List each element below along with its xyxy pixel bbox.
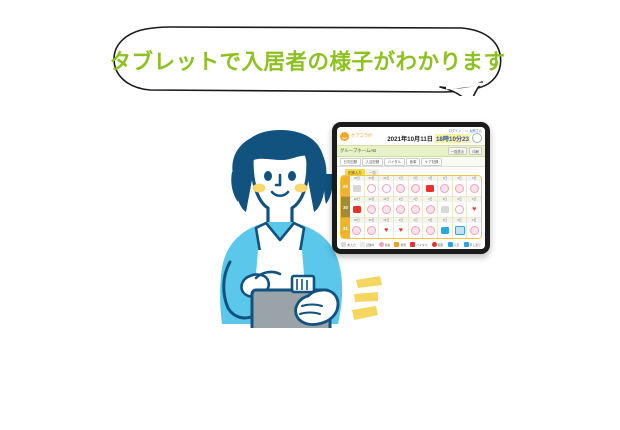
calendar-cell[interactable]: 1日: [394, 197, 409, 217]
calendar-cell-body: [394, 202, 408, 218]
calendar-cell-body: [438, 202, 452, 218]
status-pinkf-icon: [411, 205, 420, 214]
sparkle-line-2: [354, 292, 378, 302]
legend-swatch: [360, 242, 365, 247]
calendar-cell-body: [423, 223, 437, 239]
legend-label: 入浴: [454, 243, 460, 247]
calendar-cell-body: [350, 223, 364, 239]
calendar-cell[interactable]: 30日: [365, 176, 380, 196]
calendar-cell-body: ♥: [394, 223, 408, 239]
legend-swatch: [410, 242, 415, 247]
status-gray-icon: [353, 185, 361, 192]
calendar-cell[interactable]: 2日: [409, 197, 424, 217]
sparkle-line-1: [356, 276, 382, 288]
calendar-cell[interactable]: 29日: [350, 218, 365, 238]
datetime-row: 2021年10月11日 18時10分23: [387, 133, 482, 143]
calendar-row: 29日30日31日♥1日♥2日3日4日5日6日: [350, 218, 481, 238]
calendar-cell-body: [423, 202, 437, 218]
status-pinkf-icon: [470, 226, 479, 235]
status-red-icon: [426, 185, 434, 193]
status-pinkf-icon: [411, 184, 420, 193]
legend-item: 申し送り: [464, 242, 481, 247]
status-pinkf-icon: [396, 184, 405, 193]
calendar-row-labels: 293031: [341, 176, 350, 238]
calendar-cell[interactable]: 6日♥: [467, 197, 481, 217]
calendar-cell[interactable]: 29日: [350, 197, 365, 217]
calendar-cell[interactable]: 31日: [379, 176, 394, 196]
group-action-button[interactable]: 印刷: [469, 147, 482, 155]
tab-item[interactable]: バイタル: [384, 158, 404, 166]
status-pinkf-icon: [426, 226, 435, 235]
calendar-cell-body: [365, 223, 379, 239]
status-pinkf-icon: [367, 205, 376, 214]
calendar-cell[interactable]: 31日: [379, 197, 394, 217]
status-pinkf-icon: [367, 226, 376, 235]
legend-label: 食事: [385, 243, 391, 247]
calendar-cell-body: [467, 223, 481, 239]
status-pinkf-icon: [470, 184, 479, 193]
status-redmark-icon: ♥: [472, 206, 476, 213]
tablet-screen: ケアコラボ ログイン：○○ 太郎さん 2021年10月11日 18時10分23 …: [337, 127, 485, 249]
calendar-cell[interactable]: 4日: [438, 197, 453, 217]
tablet-device: ケアコラボ ログイン：○○ 太郎さん 2021年10月11日 18時10分23 …: [332, 122, 490, 254]
calendar-cell-body: [365, 181, 379, 197]
legend-swatch: [432, 242, 437, 247]
legend-item: 未入力: [341, 242, 355, 247]
group-action-button[interactable]: 一覧表示: [448, 147, 468, 155]
app-logo-text: ケアコラボ: [351, 133, 372, 139]
calendar-row: 29日30日31日1日2日3日4日5日6日♥: [350, 197, 481, 218]
status-pinkf-icon: [455, 184, 464, 193]
current-date-text: 2021年10月11日: [387, 134, 433, 143]
page-root: タブレットで入居者の様子がわかります: [0, 0, 620, 430]
app-logo-icon: [340, 132, 349, 141]
group-actions: 一覧表示 印刷: [448, 147, 482, 155]
calendar-row: 29日30日31日1日2日3日4日5日6日: [350, 176, 481, 197]
calendar-cell[interactable]: 4日: [438, 176, 453, 196]
legend-label: 未入力: [347, 243, 355, 247]
calendar-row-label: 29: [341, 176, 350, 197]
calendar-cell-body: [453, 181, 467, 197]
status-pink-icon: [455, 205, 464, 214]
calendar-cell-body: [350, 181, 364, 197]
legend-item: バイタル: [410, 242, 427, 247]
calendar-row-label: 31: [341, 218, 350, 238]
calendar-panel: 293031 29日30日31日1日2日3日4日5日6日29日30日31日1日2…: [340, 175, 482, 239]
tab-row: 日次記録 入浴記録 バイタル 食事 ケア記録: [337, 157, 485, 167]
calendar-cell[interactable]: 3日: [423, 176, 438, 196]
calendar-cell-body: [453, 223, 467, 239]
legend-item: 食事: [379, 242, 391, 247]
group-name-label: グループホームAB: [340, 148, 376, 154]
calendar-cell[interactable]: 31日♥: [379, 218, 394, 238]
status-blue-icon: [441, 227, 449, 235]
calendar-row-label: 30: [341, 197, 350, 218]
status-pinkf-icon: [440, 184, 449, 193]
tab-item[interactable]: 食事: [406, 158, 420, 166]
calendar-cell-body: [438, 181, 452, 197]
sparkle-marks: [352, 276, 392, 322]
status-pinkf-icon: [396, 205, 405, 214]
legend-item: 入浴: [448, 242, 460, 247]
tab-item[interactable]: 入浴記録: [362, 158, 383, 166]
calendar-cell[interactable]: 30日: [365, 218, 380, 238]
legend-label: 排泄: [400, 243, 406, 247]
legend-swatch: [394, 242, 399, 247]
app-header: ケアコラボ ログイン：○○ 太郎さん 2021年10月11日 18時10分23: [337, 127, 485, 146]
hair-side-left: [231, 172, 240, 202]
legend-label: バイタル: [416, 243, 427, 247]
tab-item[interactable]: ケア記録: [421, 158, 442, 166]
calendar-cell[interactable]: 29日: [350, 176, 365, 196]
legend-item: 服薬: [432, 242, 444, 247]
legend-label: 服薬: [438, 243, 444, 247]
right-cheek: [295, 184, 308, 193]
legend-item: 排泄: [394, 242, 406, 247]
calendar-cell[interactable]: 3日: [423, 218, 438, 238]
calendar-cell-body: ♥: [379, 223, 393, 239]
calendar-cell-body: [409, 181, 423, 197]
tablet-clip: [292, 276, 314, 292]
status-pinkf-icon: [426, 205, 435, 214]
legend-label: 申し送り: [470, 243, 481, 247]
calendar-cell[interactable]: 6日: [467, 176, 481, 196]
clock-icon[interactable]: [472, 133, 482, 143]
calendar-cell-body: [423, 181, 437, 197]
calendar-cell[interactable]: 2日: [409, 176, 424, 196]
header-right-group: ログイン：○○ 太郎さん 2021年10月11日 18時10分23: [387, 129, 482, 143]
status-pinkf-icon: [352, 226, 361, 235]
sparkle-line-3: [352, 306, 378, 320]
calendar-cell[interactable]: 4日: [438, 218, 453, 238]
calendar-cell-body: [453, 202, 467, 218]
legend-label: 記録中: [366, 243, 374, 247]
calendar-cell-body: ♥: [467, 202, 481, 218]
calendar-cell-body: [350, 202, 364, 218]
calendar-cell[interactable]: 3日: [423, 197, 438, 217]
calendar-cell[interactable]: 6日: [467, 218, 481, 238]
status-pink-icon: [382, 184, 391, 193]
calendar-cell[interactable]: 5日: [453, 176, 468, 196]
right-eye-icon: [288, 171, 296, 181]
subtab-row: 記録入力 一覧: [337, 167, 485, 175]
status-pinkf-icon: [411, 226, 420, 235]
tab-item[interactable]: 日次記録: [340, 158, 361, 166]
calendar-cell-body: [394, 181, 408, 197]
left-cheek: [253, 184, 266, 193]
speech-bubble: タブレットで入居者の様子がわかります: [110, 24, 505, 96]
calendar-grid: 29日30日31日1日2日3日4日5日6日29日30日31日1日2日3日4日5日…: [350, 176, 481, 238]
calendar-cell[interactable]: 5日: [453, 218, 468, 238]
calendar-cell[interactable]: 5日: [453, 197, 468, 217]
status-pinkf-icon: [382, 205, 391, 214]
calendar-cell[interactable]: 2日: [409, 218, 424, 238]
calendar-cell-body: [379, 202, 393, 218]
status-gray-icon: [441, 206, 449, 213]
current-time-text: 18時10分23: [435, 134, 470, 143]
status-redmark-icon: ♥: [399, 227, 403, 234]
status-redmark-icon: ♥: [384, 227, 388, 234]
calendar-cell-body: [379, 181, 393, 197]
calendar-cell-body: [409, 223, 423, 239]
legend-row: 未入力記録中食事排泄バイタル服薬入浴申し送り: [337, 240, 485, 249]
legend-swatch: [448, 242, 453, 247]
status-red-icon: [353, 206, 361, 214]
calendar-cell-body: [438, 223, 452, 239]
calendar-cell-body: [467, 181, 481, 197]
status-pink-icon: [367, 184, 376, 193]
group-bar: グループホームAB 一覧表示 印刷: [337, 146, 485, 157]
speech-bubble-text: タブレットで入居者の様子がわかります: [110, 24, 505, 96]
legend-swatch: [464, 242, 469, 247]
calendar-cell-body: [409, 202, 423, 218]
legend-item: 記録中: [360, 242, 374, 247]
left-eye-icon: [264, 171, 272, 181]
status-bluelt-icon: [455, 226, 465, 236]
calendar-cell[interactable]: 30日: [365, 197, 380, 217]
legend-swatch: [341, 242, 346, 247]
calendar-cell[interactable]: 1日♥: [394, 218, 409, 238]
legend-swatch: [379, 242, 384, 247]
calendar-cell-body: [365, 202, 379, 218]
calendar-cell[interactable]: 1日: [394, 176, 409, 196]
